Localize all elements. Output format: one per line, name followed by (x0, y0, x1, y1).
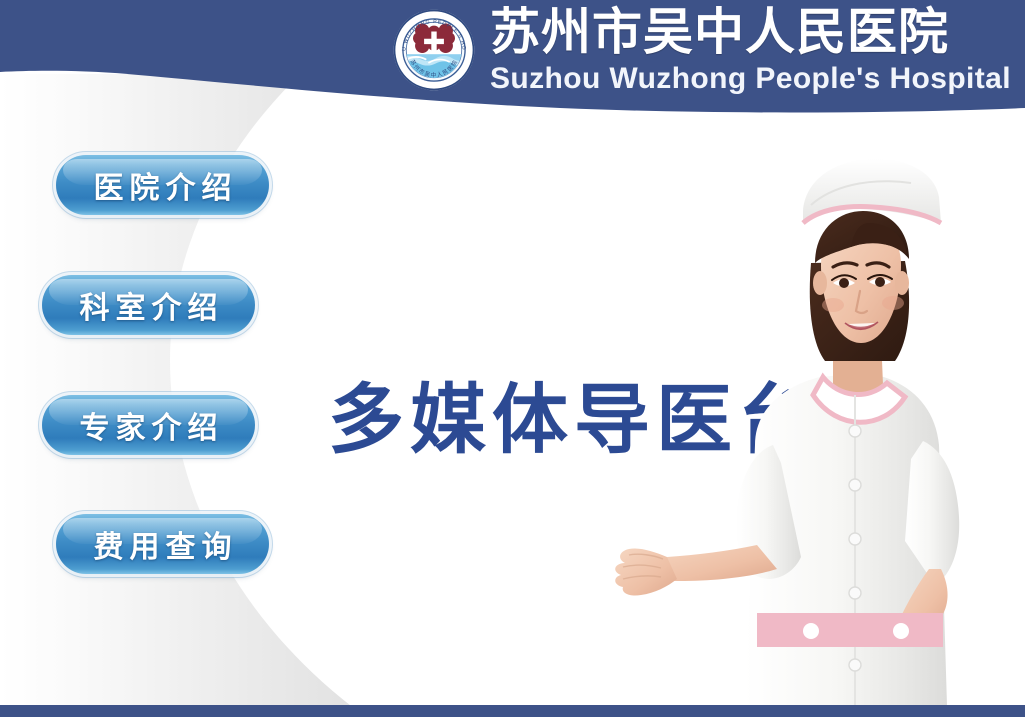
hospital-logo-icon: SUZHOU WUZHONG PEOPLE'S HOSPITAL 苏州市吴中人民… (392, 8, 476, 92)
sidebar-item-fee-inquiry[interactable]: 费用查询 (56, 514, 269, 574)
sidebar-item-department-intro[interactable]: 科室介绍 (42, 275, 255, 335)
nurse-illustration (605, 145, 1025, 705)
sidebar-item-label: 科室介绍 (74, 283, 224, 327)
sidebar-item-expert-intro[interactable]: 专家介绍 (42, 395, 255, 455)
brand-text-block: 苏州市吴中人民医院 Suzhou Wuzhong People's Hospit… (490, 4, 1011, 94)
hospital-name-en: Suzhou Wuzhong People's Hospital (490, 64, 1011, 94)
footer-bar (0, 705, 1025, 717)
hospital-name-cn: 苏州市吴中人民医院 (490, 7, 949, 57)
sidebar-item-hospital-intro[interactable]: 医院介绍 (56, 155, 269, 215)
header-content: SUZHOU WUZHONG PEOPLE'S HOSPITAL 苏州市吴中人民… (392, 4, 1011, 94)
kiosk-screen: SUZHOU WUZHONG PEOPLE'S HOSPITAL 苏州市吴中人民… (0, 0, 1025, 717)
sidebar-item-label: 费用查询 (88, 522, 238, 566)
sidebar-item-label: 医院介绍 (88, 163, 238, 207)
sidebar-nav: 医院介绍 科室介绍 专家介绍 费用查询 (0, 0, 320, 717)
sidebar-item-label: 专家介绍 (74, 403, 224, 447)
